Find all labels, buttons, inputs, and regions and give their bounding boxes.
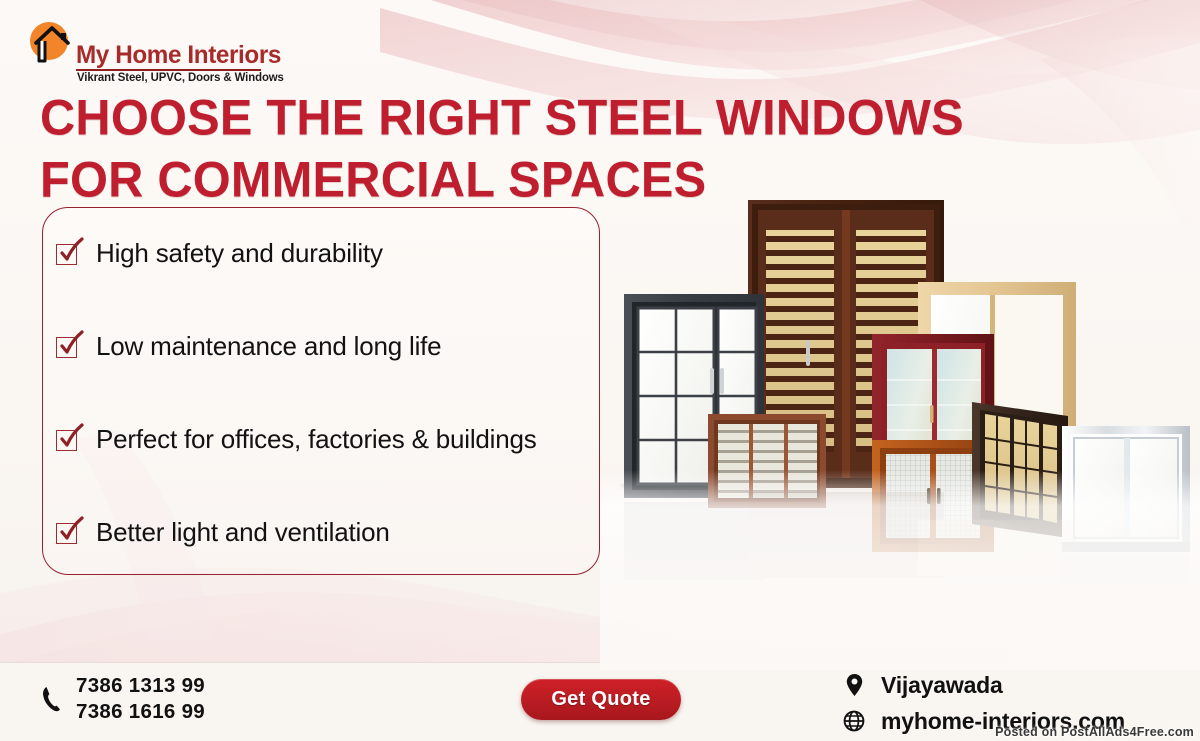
feature-label: Better light and ventilation bbox=[96, 517, 390, 548]
checkmark-icon bbox=[56, 428, 80, 452]
phone-icon bbox=[40, 684, 62, 714]
brand-logo[interactable]: My Home Interiors Vikrant Steel, UPVC, D… bbox=[28, 17, 278, 75]
feature-item: Low maintenance and long life bbox=[56, 331, 626, 362]
headline: CHOOSE THE RIGHT STEEL WINDOWS FOR COMME… bbox=[40, 87, 1020, 205]
logo-underline bbox=[76, 69, 261, 71]
map-pin-icon bbox=[843, 672, 865, 698]
feature-label: High safety and durability bbox=[96, 238, 383, 269]
floor-reflection bbox=[600, 470, 1200, 670]
location-label: Vijayawada bbox=[881, 672, 1003, 699]
house-in-circle-icon bbox=[28, 19, 74, 65]
globe-icon bbox=[843, 708, 865, 734]
phone-number: 7386 1616 99 bbox=[76, 699, 205, 725]
phone-numbers: 7386 1313 99 7386 1616 99 bbox=[76, 673, 205, 725]
feature-item: Perfect for offices, factories & buildin… bbox=[56, 424, 626, 455]
brand-tagline: Vikrant Steel, UPVC, Doors & Windows bbox=[77, 72, 284, 84]
features-list: High safety and durability Low maintenan… bbox=[42, 207, 622, 575]
phone-block[interactable]: 7386 1313 99 7386 1616 99 bbox=[40, 673, 205, 725]
location-row: Vijayawada bbox=[843, 669, 1125, 701]
feature-label: Low maintenance and long life bbox=[96, 331, 441, 362]
advertisement-banner: My Home Interiors Vikrant Steel, UPVC, D… bbox=[0, 0, 1200, 741]
checkmark-icon bbox=[56, 335, 80, 359]
feature-label: Perfect for offices, factories & buildin… bbox=[96, 424, 537, 455]
get-quote-button[interactable]: Get Quote bbox=[521, 679, 681, 720]
phone-number: 7386 1313 99 bbox=[76, 673, 205, 699]
watermark: Posted on PostAllAds4Free.com bbox=[995, 725, 1194, 739]
feature-item: Better light and ventilation bbox=[56, 517, 626, 548]
headline-line-1: CHOOSE THE RIGHT STEEL WINDOWS bbox=[40, 87, 1079, 147]
brand-name: My Home Interiors bbox=[76, 41, 281, 70]
feature-item: High safety and durability bbox=[56, 238, 626, 269]
checkmark-icon bbox=[56, 242, 80, 266]
checkmark-icon bbox=[56, 521, 80, 545]
